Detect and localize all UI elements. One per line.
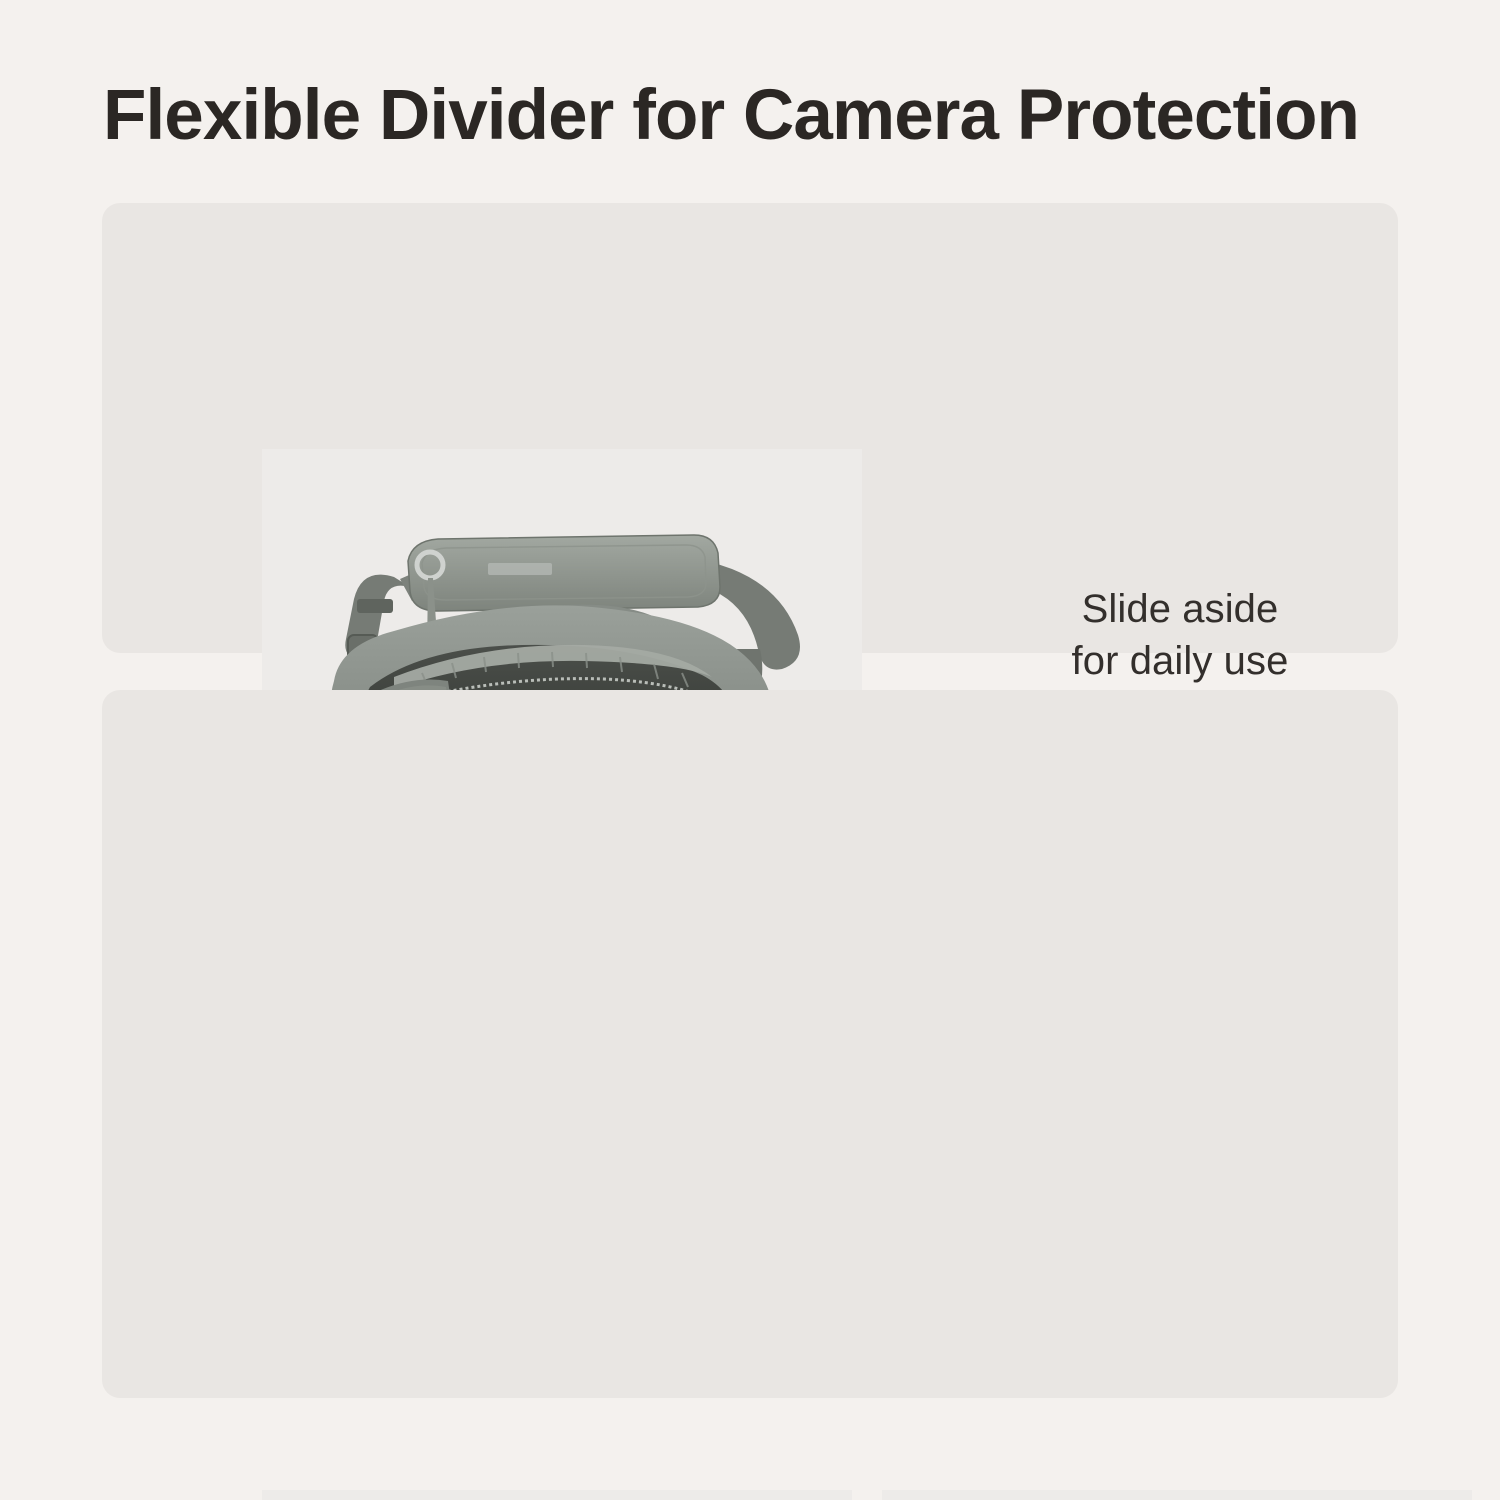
- bag-with-camera-inside-photo: [882, 1490, 1472, 1500]
- caption-line-1: Slide aside: [980, 583, 1380, 635]
- caption-line-2: for daily use: [980, 635, 1380, 687]
- bag-divider-expanded-photo: [262, 1490, 852, 1500]
- infographic-page: Flexible Divider for Camera Protection: [0, 0, 1500, 1500]
- caption-slide-aside: Slide aside for daily use: [980, 583, 1380, 687]
- page-title: Flexible Divider for Camera Protection: [103, 80, 1413, 151]
- panel-expand-and-secure: Expand to fit your camera lens Secure yo…: [102, 690, 1398, 1398]
- panel-slide-aside: Slide aside for daily use: [102, 203, 1398, 653]
